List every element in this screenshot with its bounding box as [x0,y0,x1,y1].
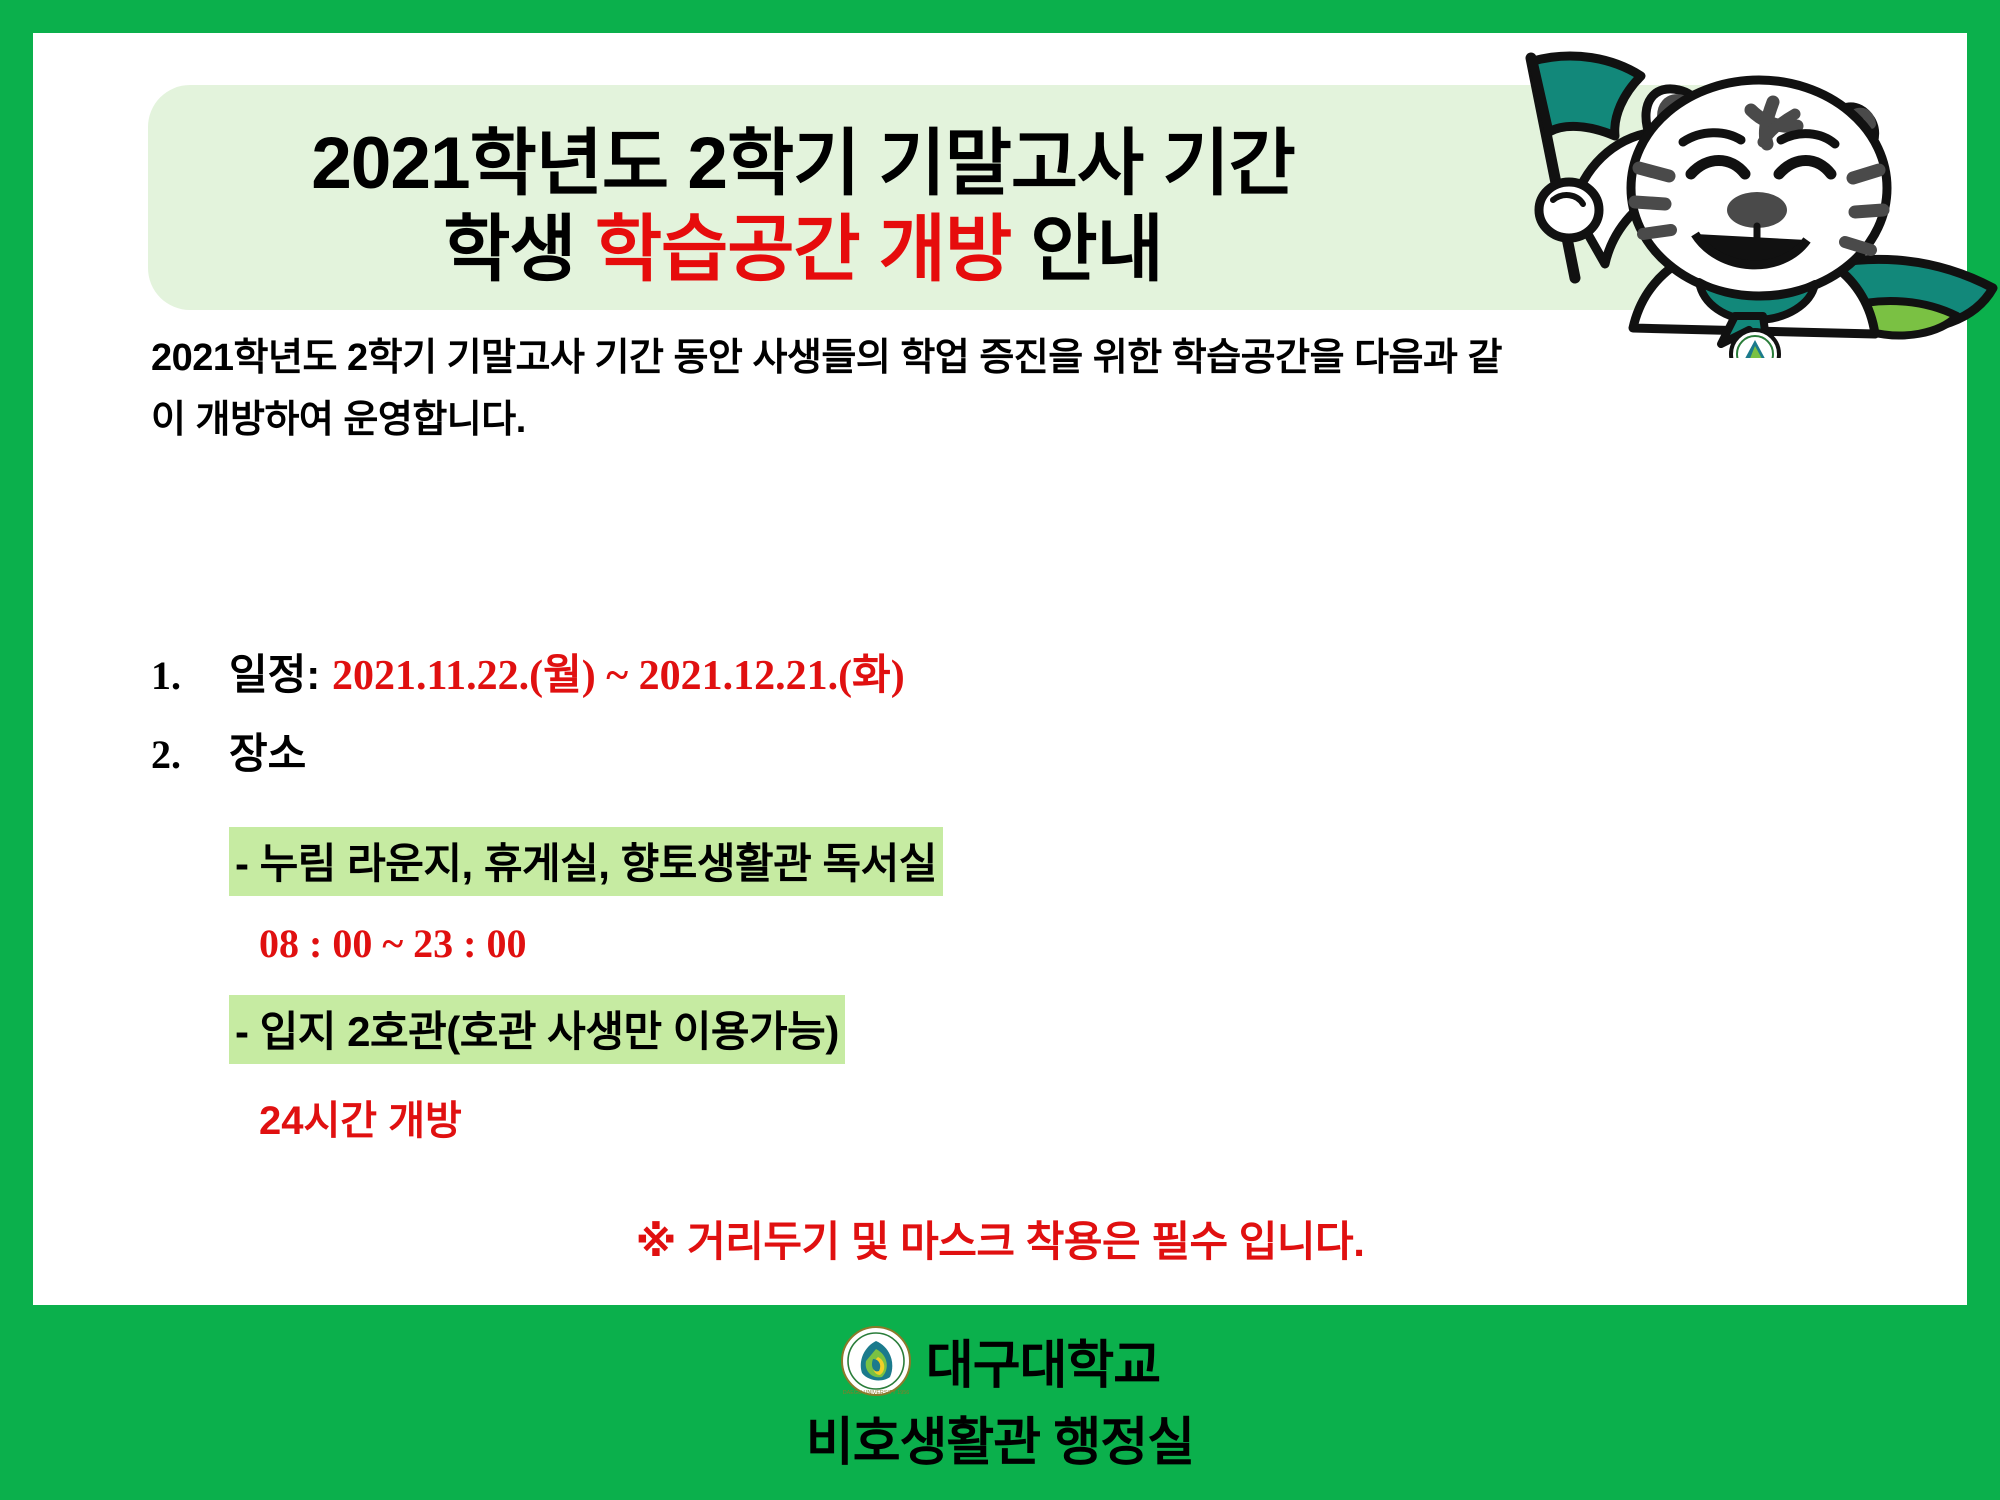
footer: DAEGU UNIVERSITY 1956 대구대학교 비호생활관 행정실 [0,1305,2000,1500]
poster-title: 2021학년도 2학기 기말고사 기간 학생 학습공간 개방 안내 [148,121,1458,293]
list-item-place: 2. 장소 [151,720,1651,781]
list-item-schedule-number: 1. [151,652,229,699]
notice-poster: 2021학년도 2학기 기말고사 기간 학생 학습공간 개방 안내 [0,0,2000,1500]
list-item-schedule-body: 일정: 2021.11.22.(월) ~ 2021.12.21.(화) [229,641,905,702]
title-line-1: 2021학년도 2학기 기말고사 기간 [148,121,1458,207]
place-1-location: - 누림 라운지, 휴게실, 향토생활관 독서실 [229,827,943,896]
list-item-schedule: 1. 일정: 2021.11.22.(월) ~ 2021.12.21.(화) [151,641,1651,702]
content-card: 2021학년도 2학기 기말고사 기간 학생 학습공간 개방 안내 [33,33,1967,1305]
title-line-2: 학생 학습공간 개방 안내 [148,207,1458,293]
title-line2-emphasis: 학습공간 개방 [595,209,1011,290]
safety-notice: ※ 거리두기 및 마스크 착용은 필수 입니다. [33,1208,1967,1269]
schedule-label: 일정: [229,651,332,698]
place-entry-1: - 누림 라운지, 휴게실, 향토생활관 독서실 08 : 00 ~ 23 : … [151,799,1651,967]
footer-office-name: 비호생활관 행정실 [806,1400,1194,1475]
footer-university-row: DAEGU UNIVERSITY 1956 대구대학교 [840,1323,1160,1398]
seal-text: DAEGU UNIVERSITY 1956 [843,1390,909,1396]
place-2-hours: 24시간 개방 [259,1088,1651,1146]
place-entry-2: - 입지 2호관(호관 사생만 이용가능) 24시간 개방 [151,967,1651,1146]
title-line2-prefix: 학생 [443,209,595,290]
schedule-value: 2021.11.22.(월) ~ 2021.12.21.(화) [332,653,905,699]
university-seal-icon: DAEGU UNIVERSITY 1956 [840,1325,912,1397]
place-2-location: - 입지 2호관(호관 사생만 이용가능) [229,995,845,1064]
footer-university-name: 대구대학교 [926,1323,1160,1398]
title-line2-suffix: 안내 [1011,209,1163,290]
details-list: 1. 일정: 2021.11.22.(월) ~ 2021.12.21.(화) 2… [151,641,1651,1146]
title-banner: 2021학년도 2학기 기말고사 기간 학생 학습공간 개방 안내 [148,85,1798,310]
place-1-hours: 08 : 00 ~ 23 : 00 [259,920,1651,967]
list-item-place-label: 장소 [229,720,306,781]
intro-paragraph: 2021학년도 2학기 기말고사 기간 동안 사생들의 학업 증진을 위한 학습… [151,328,1521,451]
list-item-place-number: 2. [151,731,229,778]
